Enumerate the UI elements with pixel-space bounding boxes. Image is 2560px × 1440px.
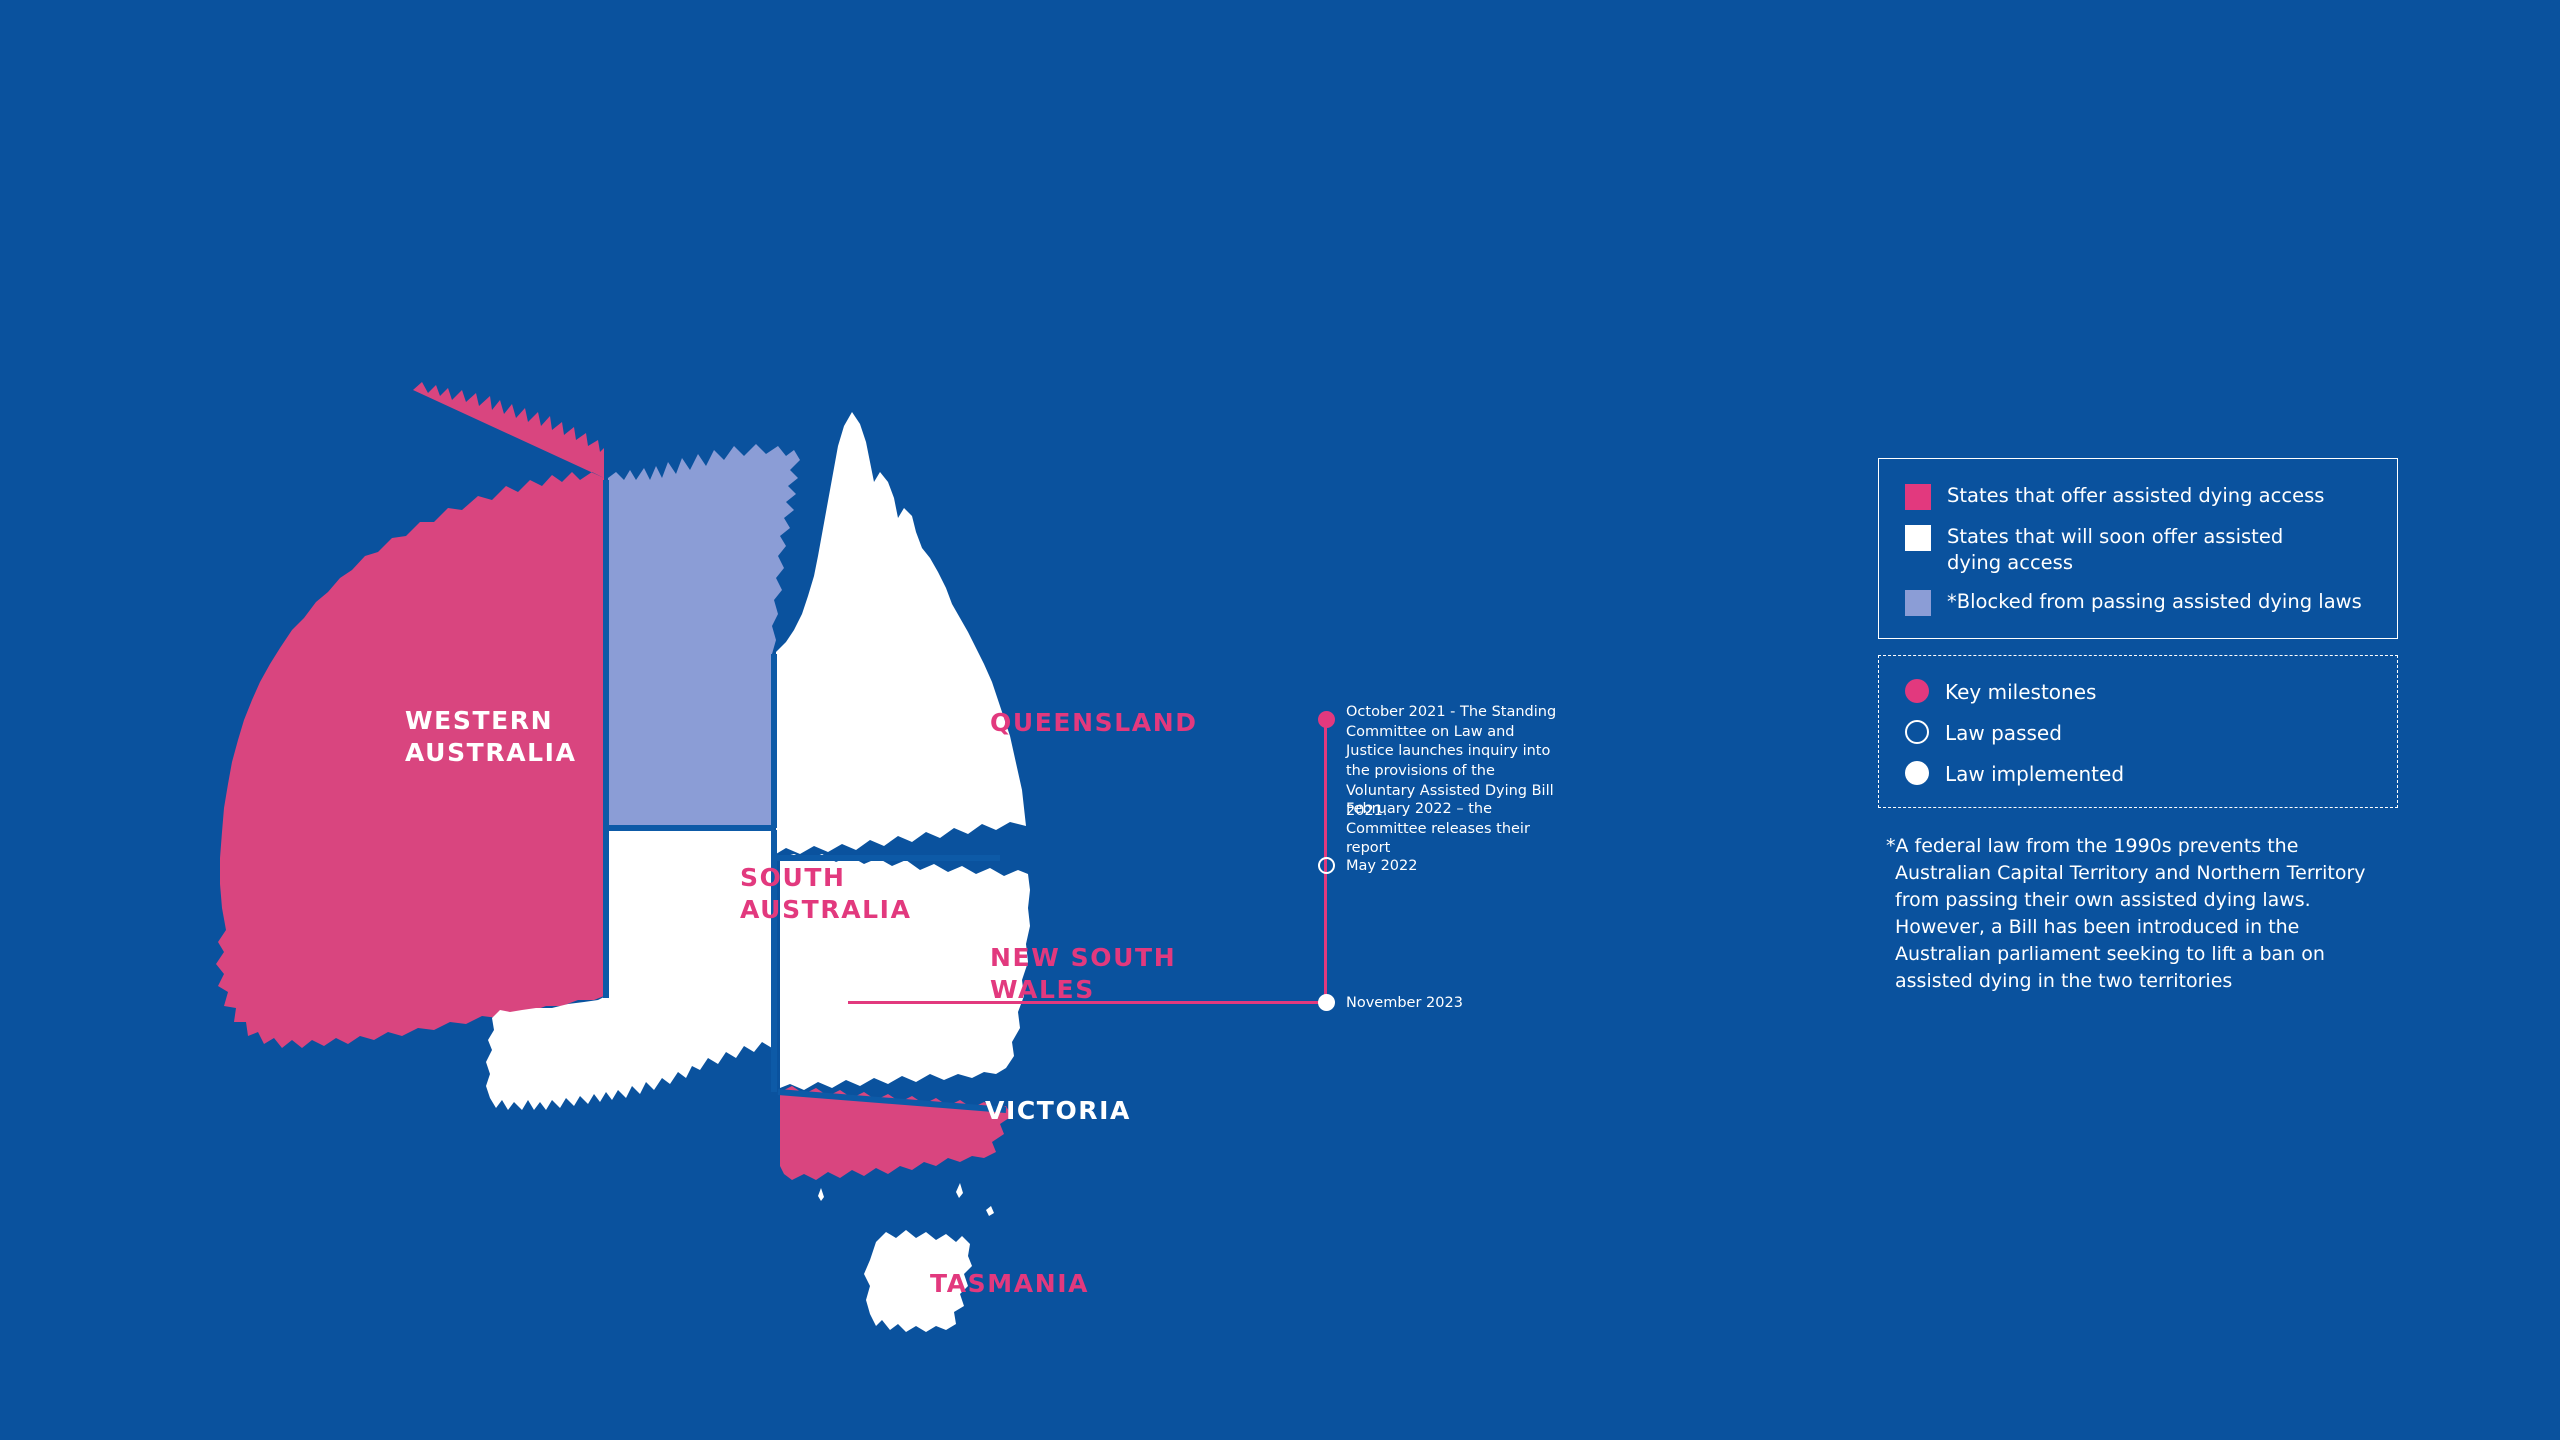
state-shape-wa[interactable] (216, 382, 604, 1048)
footnote-text: *A federal law from the 1990s prevents t… (1886, 833, 2395, 995)
timeline-marker-law-passed[interactable] (1318, 857, 1335, 874)
islet-bass (986, 1206, 994, 1216)
legend-swatch-white (1905, 525, 1931, 551)
milestone-dot-solid-icon (1905, 761, 1929, 785)
milestone-dot-pink-icon (1905, 679, 1929, 703)
islet-north-a (818, 1188, 824, 1201)
legend-label-blocked: *Blocked from passing assisted dying law… (1947, 589, 2362, 615)
legend-row-blocked[interactable]: *Blocked from passing assisted dying law… (1905, 589, 2371, 616)
legend-swatch-pink (1905, 484, 1931, 510)
milestone-label-law-implemented: Law implemented (1945, 760, 2124, 787)
timeline: October 2021 - The Standing Committee on… (1318, 700, 1638, 1020)
timeline-marker-key-milestone[interactable] (1318, 711, 1335, 728)
state-shape-qld[interactable] (776, 412, 1026, 854)
milestone-row-law-passed[interactable]: Law passed (1905, 719, 2371, 746)
legend-label-offers-access: States that offer assisted dying access (1947, 483, 2324, 509)
islet-north-b (956, 1183, 963, 1198)
state-shape-nsw[interactable] (780, 854, 1030, 1090)
legend-swatch-lavender (1905, 590, 1931, 616)
timeline-event-text-3: May 2022 (1346, 857, 1561, 877)
milestone-label-law-passed: Law passed (1945, 719, 2062, 746)
legend-panel: States that offer assisted dying access … (1878, 458, 2398, 639)
timeline-connector-line (848, 1001, 1324, 1004)
milestone-label-key-milestones: Key milestones (1945, 678, 2096, 705)
australia-map (200, 330, 1320, 1350)
milestone-row-law-implemented[interactable]: Law implemented (1905, 760, 2371, 787)
timeline-event-text-4: November 2023 (1346, 994, 1561, 1014)
state-shape-tas[interactable] (864, 1230, 972, 1332)
timeline-event-text-2: February 2022 – the Committee releases t… (1346, 800, 1554, 859)
legend-row-soon-offers-access[interactable]: States that will soon offer assisted dyi… (1905, 524, 2371, 575)
map-stage: WESTERN AUSTRALIA NORTHERN TERRITORY QUE… (0, 0, 1400, 1440)
legend-row-offers-access[interactable]: States that offer assisted dying access (1905, 483, 2371, 510)
milestone-legend-panel: Key milestones Law passed Law implemente… (1878, 655, 2398, 808)
timeline-marker-law-implemented[interactable] (1318, 994, 1335, 1011)
legend-label-soon-offers-access: States that will soon offer assisted dyi… (1947, 524, 2283, 575)
milestone-row-key-milestones[interactable]: Key milestones (1905, 678, 2371, 705)
milestone-dot-hollow-icon (1905, 720, 1929, 744)
